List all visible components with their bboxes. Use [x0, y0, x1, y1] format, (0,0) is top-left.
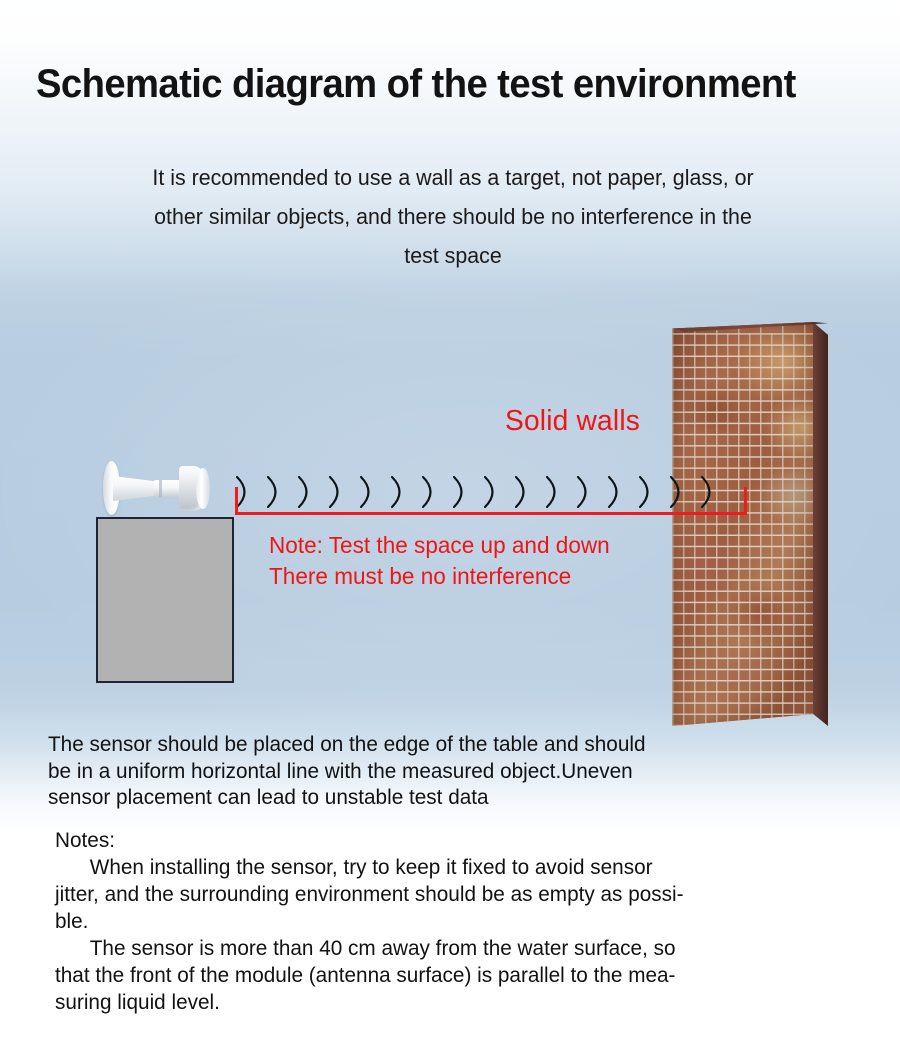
wave-arc — [640, 477, 648, 507]
note-line: There must be no interference — [269, 561, 610, 592]
brick-wall — [672, 322, 832, 732]
brick-wall-face — [672, 322, 815, 726]
wave-arc — [237, 477, 245, 507]
support-table — [96, 517, 234, 683]
subtitle-line: other similar objects, and there should … — [97, 197, 810, 236]
sensor-neck — [113, 476, 157, 501]
brick-wall-side-edge — [813, 322, 828, 726]
note-item-line: The sensor is more than 40 cm away from … — [55, 935, 827, 962]
page-title: Schematic diagram of the test environmen… — [36, 62, 838, 107]
placement-line: be in a uniform horizontal line with the… — [48, 758, 820, 785]
wave-arc — [392, 477, 400, 507]
wave-arc — [516, 477, 524, 507]
wave-arc — [671, 477, 679, 507]
note-item-line: When installing the sensor, try to keep … — [55, 854, 827, 881]
wave-arc — [578, 477, 586, 507]
wave-arc — [330, 477, 338, 507]
placement-line: sensor placement can lead to unstable te… — [48, 784, 820, 811]
wave-arc — [547, 477, 555, 507]
wave-arc — [454, 477, 462, 507]
note-item-line: suring liquid level. — [55, 989, 827, 1016]
notes-section: Notes: When installing the sensor, try t… — [55, 827, 827, 1016]
sensor-body-ring — [159, 480, 162, 497]
sensor-antenna-cap — [196, 468, 210, 509]
wave-arc — [268, 477, 276, 507]
wave-arc — [609, 477, 617, 507]
measurement-distance-line — [235, 512, 747, 515]
placement-line: The sensor should be placed on the edge … — [48, 731, 820, 758]
wave-arc — [702, 477, 710, 507]
placement-paragraph: The sensor should be placed on the edge … — [48, 731, 820, 811]
wave-arc — [423, 477, 431, 507]
solid-walls-label: Solid walls — [505, 405, 640, 438]
schematic-page: Schematic diagram of the test environmen… — [0, 0, 900, 1050]
note-line: Note: Test the space up and down — [269, 530, 610, 561]
notes-heading: Notes: — [55, 827, 827, 854]
page-subtitle: It is recommended to use a wall as a tar… — [97, 158, 810, 275]
measure-tick-right — [744, 487, 747, 515]
note-item-line: jitter, and the surrounding environment … — [55, 881, 827, 908]
wave-arc — [299, 477, 307, 507]
subtitle-line: test space — [97, 236, 810, 275]
subtitle-line: It is recommended to use a wall as a tar… — [97, 158, 810, 197]
note-item-line: that the front of the module (antenna su… — [55, 962, 827, 989]
note-item-line: ble. — [55, 908, 827, 935]
signal-wave-arcs — [230, 472, 730, 512]
interference-note-label: Note: Test the space up and down There m… — [269, 530, 610, 592]
wave-arc — [361, 477, 369, 507]
measure-tick-left — [235, 487, 238, 515]
ultrasonic-sensor-icon — [99, 461, 217, 517]
wave-arc — [485, 477, 493, 507]
